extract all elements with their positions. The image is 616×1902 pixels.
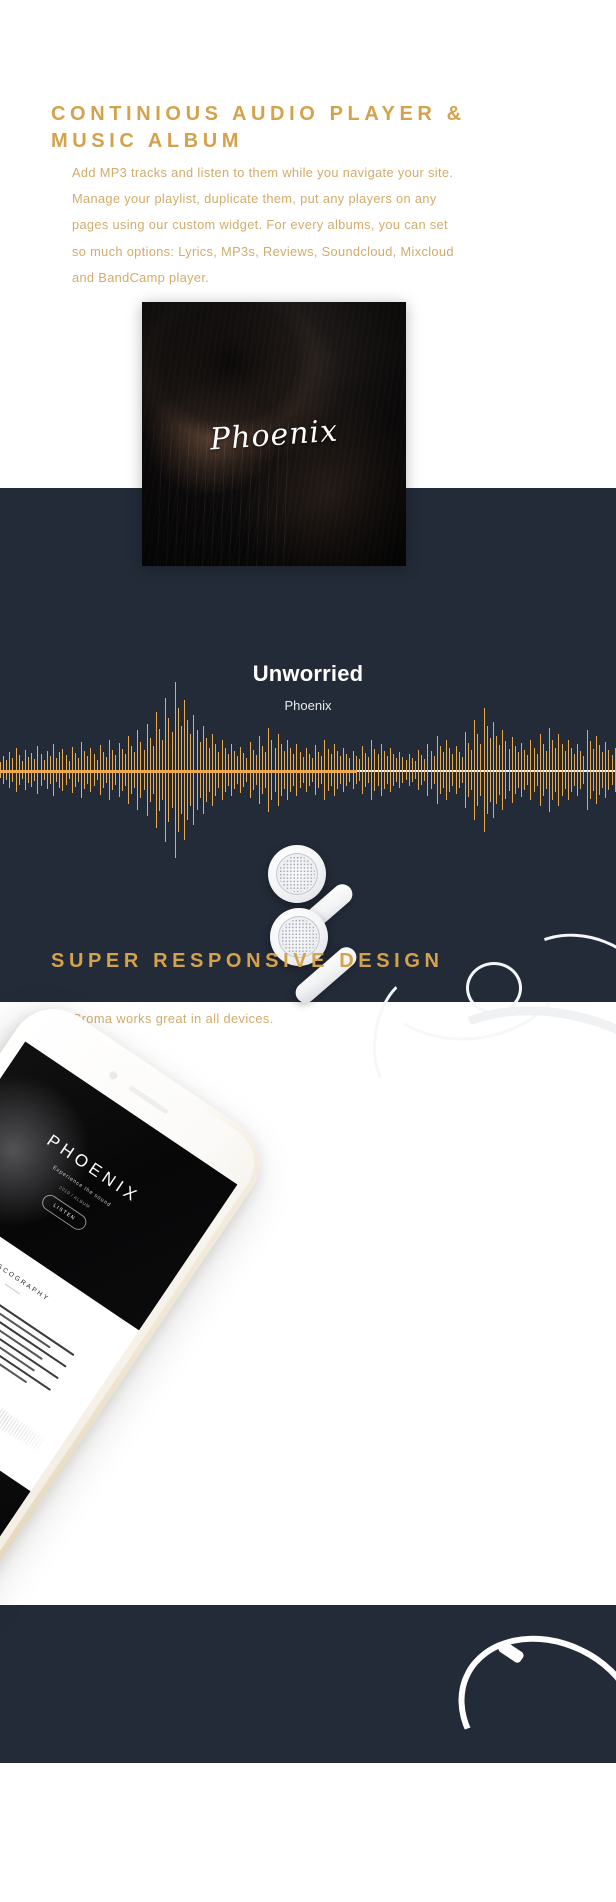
phone-body: PHOENIX Experience the sound 2019 / ALBU… <box>0 992 277 1620</box>
phone-divider <box>5 1284 20 1295</box>
album-artwork[interactable]: Phoenix <box>142 302 406 566</box>
phone-track-line <box>0 1323 35 1372</box>
landing-page: CONTINIOUS AUDIO PLAYER & MUSIC ALBUM Ad… <box>0 0 616 1763</box>
audio-player-description: Add MP3 tracks and listen to them while … <box>72 160 462 291</box>
responsive-design-description: Croma works great in all devices. <box>72 1011 492 1026</box>
audio-player-heading: CONTINIOUS AUDIO PLAYER & MUSIC ALBUM <box>51 101 521 155</box>
responsive-design-heading: SUPER RESPONSIVE DESIGN <box>51 948 481 975</box>
phone-track-lines <box>0 1291 96 1427</box>
earbud-left <box>268 845 326 903</box>
track-artist: Phoenix <box>0 698 616 713</box>
earbud-mesh-left <box>276 853 318 895</box>
track-title: Unworried <box>0 661 616 687</box>
phone-mockup: PHOENIX Experience the sound 2019 / ALBU… <box>0 992 456 1902</box>
